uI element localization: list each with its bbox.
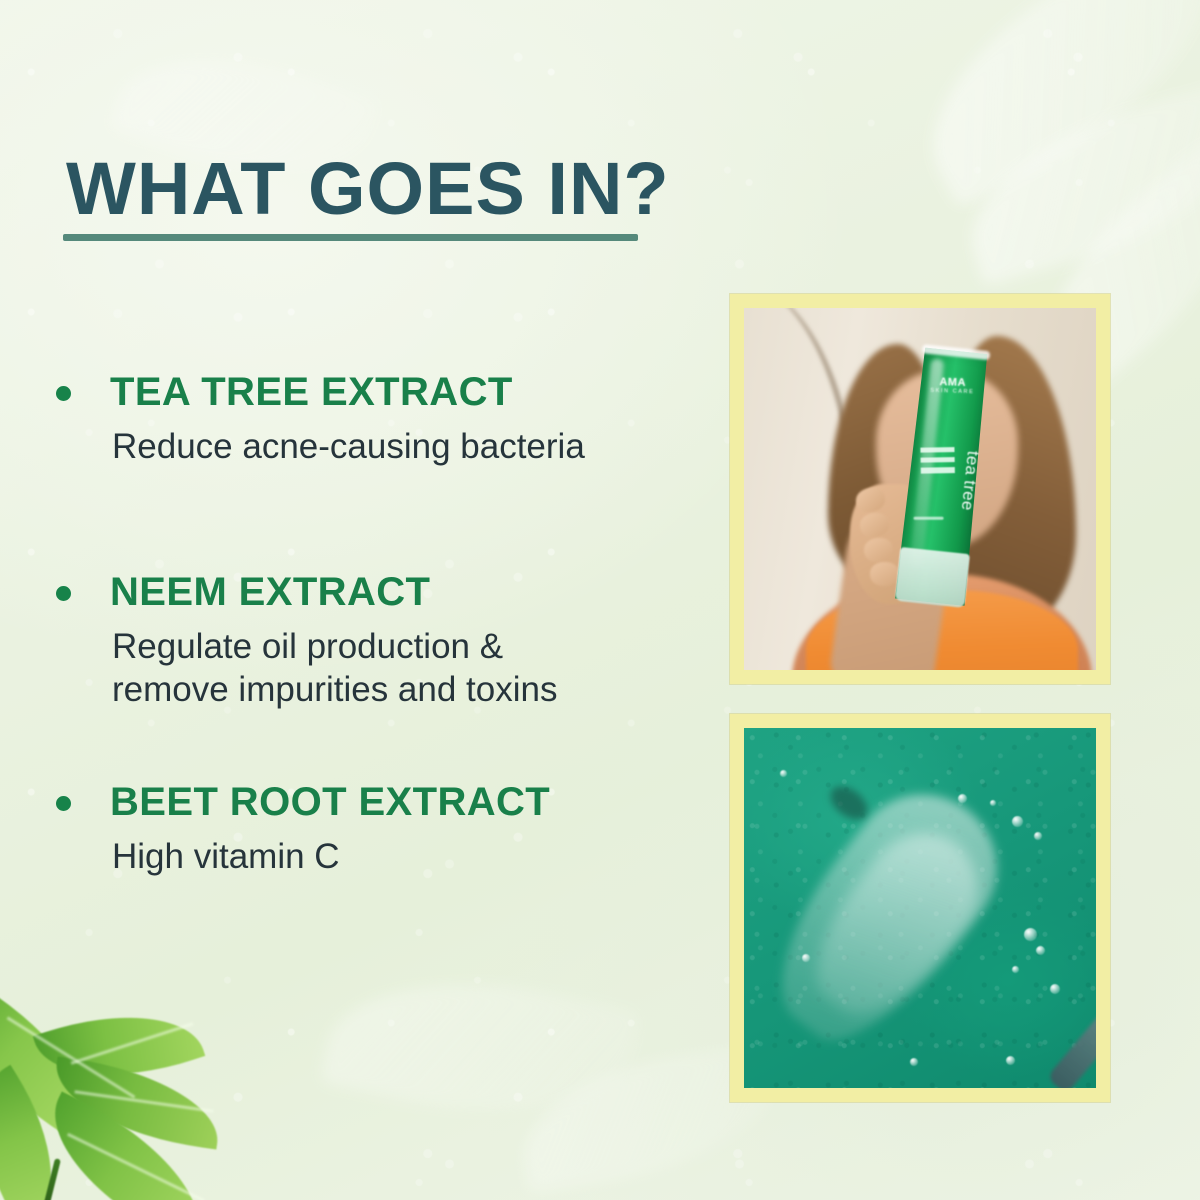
ingredient-description-line: Reduce acne-causing bacteria: [112, 425, 692, 468]
product-photo-top: AMA SKIN CARE tea tree: [744, 308, 1096, 670]
tube-fine-print: [914, 517, 944, 520]
water-droplet: [780, 770, 787, 777]
ingredient-title: BEET ROOT EXTRACT: [110, 780, 692, 825]
ingredient-description: Reduce acne-causing bacteria: [112, 425, 692, 468]
water-droplet: [1024, 928, 1037, 941]
bullet-dot-icon: [56, 386, 71, 401]
water-droplet: [990, 800, 996, 806]
list-item: TEA TREE EXTRACT Reduce acne-causing bac…: [52, 370, 692, 468]
product-photo-frame-top: AMA SKIN CARE tea tree: [730, 294, 1110, 684]
water-droplet: [1012, 966, 1019, 973]
water-droplet: [1012, 816, 1023, 827]
ingredient-title: TEA TREE EXTRACT: [110, 370, 692, 415]
water-droplet: [1006, 1056, 1015, 1065]
ingredients-poster: WHAT GOES IN? TEA TREE EXTRACT Reduce ac…: [0, 0, 1200, 1200]
bullet-dot-icon: [56, 586, 71, 601]
page-title: WHAT GOES IN?: [66, 152, 670, 226]
title-underline: [63, 234, 638, 241]
ingredient-description-line: High vitamin C: [112, 835, 692, 878]
water-droplet: [910, 1058, 918, 1066]
product-photo-frame-bottom: [730, 714, 1110, 1102]
water-droplet: [1036, 946, 1045, 955]
ingredient-title: NEEM EXTRACT: [110, 570, 692, 615]
water-droplet: [802, 954, 810, 962]
tube-brand-label: AMA SKIN CARE: [922, 375, 983, 395]
bullet-dot-icon: [56, 796, 71, 811]
ingredient-description: High vitamin C: [112, 835, 692, 878]
ingredient-description-line: Regulate oil production &: [112, 625, 692, 668]
ingredient-description-line: remove impurities and toxins: [112, 668, 692, 711]
tube-cap: [895, 547, 970, 608]
water-droplet: [958, 794, 967, 803]
tube-stripes: [920, 447, 954, 474]
leaf-decoration-icon: [0, 1006, 232, 1200]
list-item: NEEM EXTRACT Regulate oil production & r…: [52, 570, 692, 712]
product-photo-bottom: [744, 728, 1096, 1088]
tube-brand-text: AMA: [939, 376, 966, 389]
ingredient-description: Regulate oil production & remove impurit…: [112, 625, 692, 712]
water-droplet: [1034, 832, 1042, 840]
water-droplet: [1050, 984, 1060, 994]
list-item: BEET ROOT EXTRACT High vitamin C: [52, 780, 692, 878]
